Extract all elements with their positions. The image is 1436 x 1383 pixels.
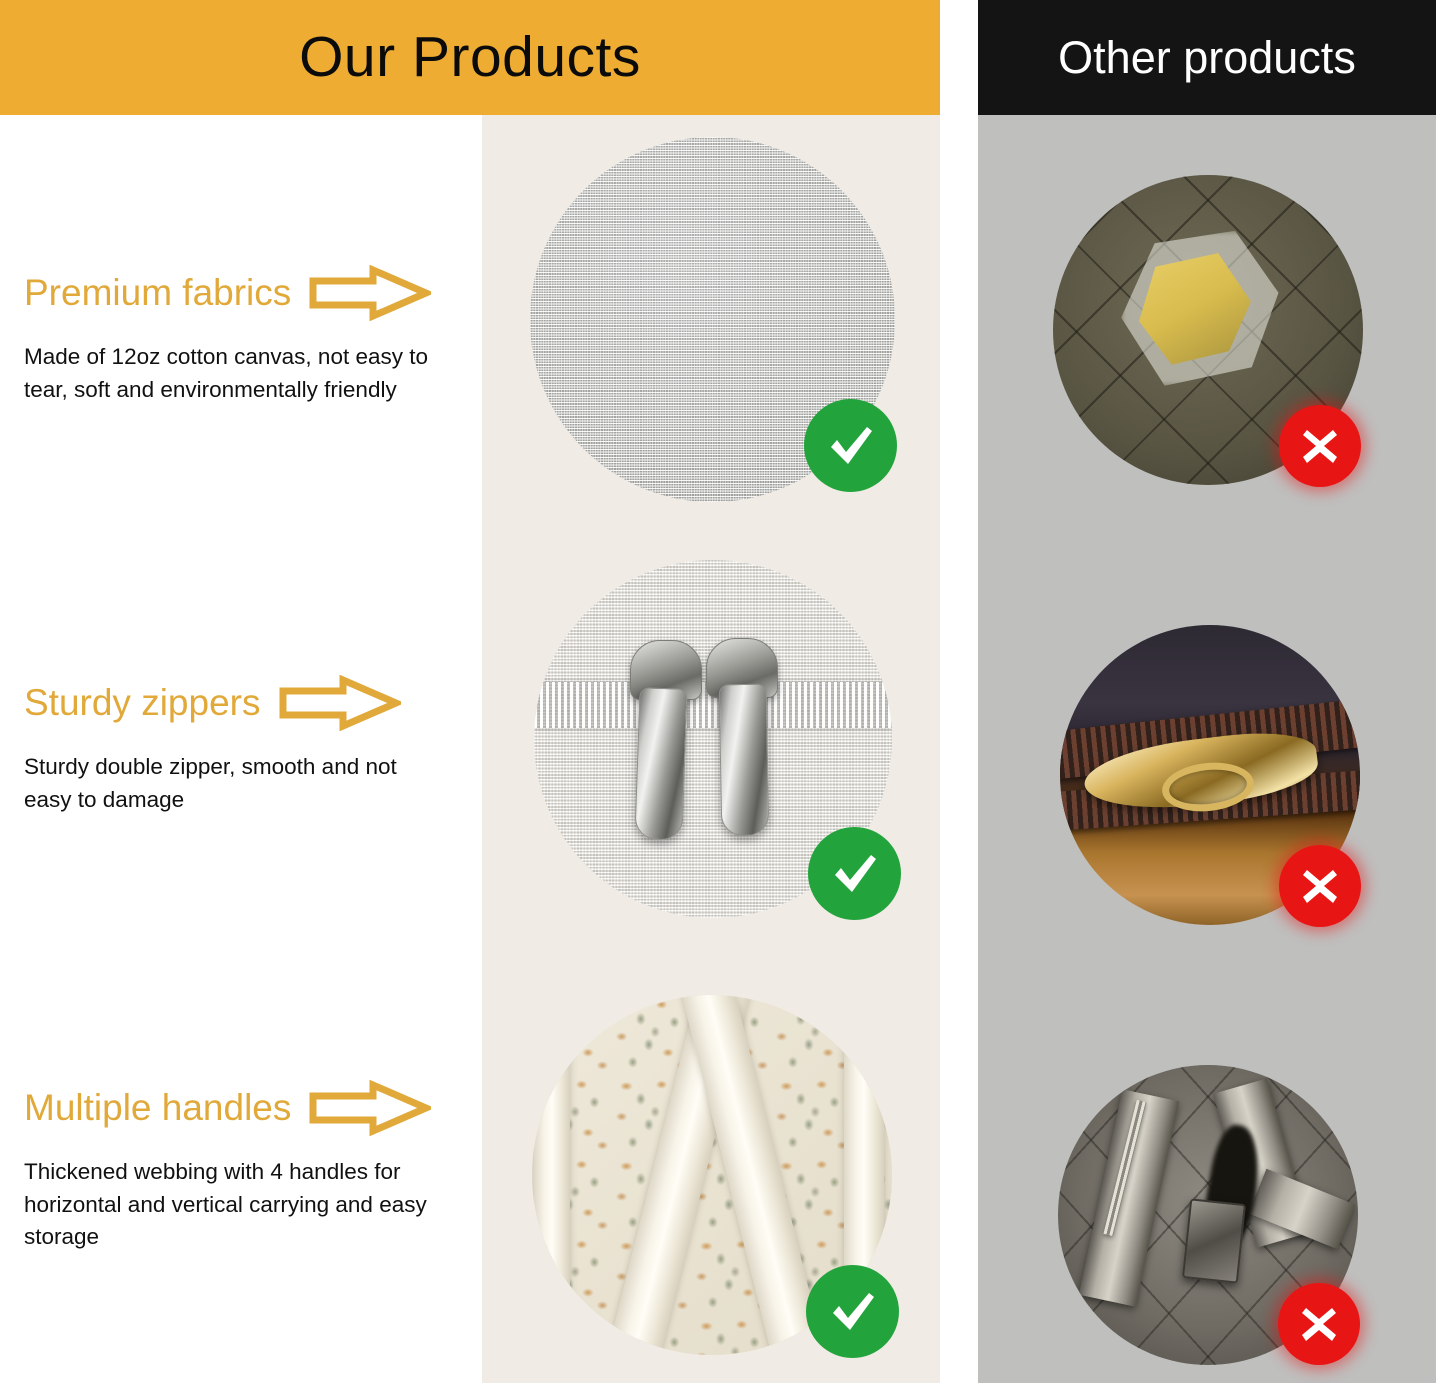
feature-heading-row: Sturdy zippers [24, 675, 474, 731]
cross-icon [1295, 421, 1345, 471]
other-products-header: Other products [978, 0, 1436, 115]
feature-description: Sturdy double zipper, smooth and not eas… [24, 751, 444, 816]
our-products-photo-column [482, 115, 940, 1383]
right-arrow-outline-icon [309, 1080, 431, 1136]
feature-multiple-handles: Multiple handles Thickened webbing with … [24, 1080, 474, 1254]
feature-premium-fabrics: Premium fabrics Made of 12oz cotton canv… [24, 265, 474, 406]
feature-sturdy-zippers: Sturdy zippers Sturdy double zipper, smo… [24, 675, 474, 816]
check-icon [821, 416, 881, 476]
right-arrow-outline-icon [309, 265, 431, 321]
cross-badge-zipper [1279, 845, 1361, 927]
other-products-body [978, 115, 1436, 1383]
webbing-strap-edge-left [534, 1035, 570, 1335]
other-products-title: Other products [1058, 35, 1356, 80]
cross-badge-handle [1278, 1283, 1360, 1365]
check-icon [823, 1282, 883, 1342]
check-badge-handles [806, 1265, 899, 1358]
right-arrow-outline-icon [279, 675, 401, 731]
feature-heading-label: Premium fabrics [24, 274, 291, 313]
other-products-panel: Other products [978, 0, 1436, 1383]
cross-badge-fabric [1279, 405, 1361, 487]
feature-heading-label: Multiple handles [24, 1089, 291, 1128]
plastic-buckle [1182, 1198, 1246, 1283]
check-icon [825, 844, 885, 904]
zipper-pull-left [634, 687, 687, 841]
feature-heading-label: Sturdy zippers [24, 684, 261, 723]
comparison-infographic: Our Products Premium fabrics Made of 12o… [0, 0, 1436, 1383]
cross-icon [1295, 861, 1345, 911]
check-badge-fabric [804, 399, 897, 492]
our-products-body: Premium fabrics Made of 12oz cotton canv… [0, 115, 940, 1383]
cross-icon [1294, 1299, 1344, 1349]
feature-description: Made of 12oz cotton canvas, not easy to … [24, 341, 444, 406]
our-products-header: Our Products [0, 0, 940, 115]
feature-description: Thickened webbing with 4 handles for hor… [24, 1156, 444, 1254]
features-text-column: Premium fabrics Made of 12oz cotton canv… [0, 115, 482, 1383]
zipper-pull-right [719, 684, 770, 837]
feature-heading-row: Multiple handles [24, 1080, 474, 1136]
check-badge-zipper [808, 827, 901, 920]
our-products-title: Our Products [299, 29, 641, 86]
our-products-panel: Our Products Premium fabrics Made of 12o… [0, 0, 940, 1383]
feature-heading-row: Premium fabrics [24, 265, 474, 321]
